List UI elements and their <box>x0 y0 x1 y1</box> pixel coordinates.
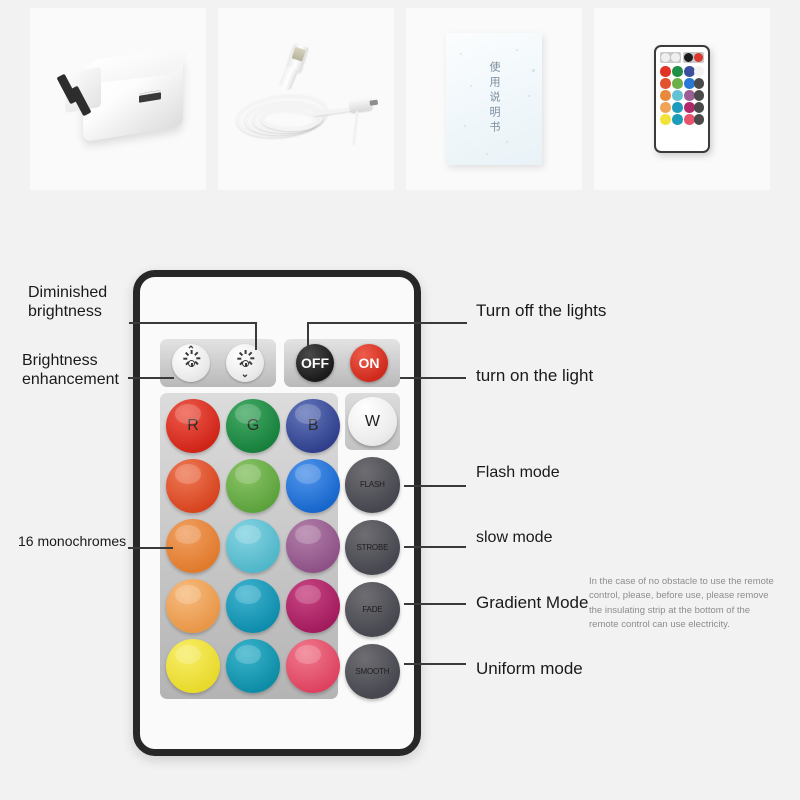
callout-flash-mode: Flash mode <box>476 464 560 483</box>
thumb-color <box>672 78 683 89</box>
thumb-color <box>660 114 671 125</box>
sun-ray <box>183 358 187 360</box>
brightness-pad: ⌃ <box>160 339 276 387</box>
color-button[interactable] <box>286 579 340 633</box>
color-button[interactable] <box>286 459 340 513</box>
callout-uniform-mode: Uniform mode <box>476 659 583 679</box>
top-button-row: ⌃ <box>160 339 400 387</box>
sun-ray <box>237 358 241 360</box>
mode-button-smooth[interactable]: SMOOTH <box>345 644 400 699</box>
paper-fleck <box>460 53 462 55</box>
product-panel-power-adapter <box>30 8 206 190</box>
color-and-mode-grid: R G B <box>160 393 400 699</box>
thumb-off <box>684 53 693 62</box>
sun-ray <box>250 358 254 360</box>
color-button-blue[interactable]: B <box>286 399 340 453</box>
color-button[interactable] <box>166 639 220 693</box>
callout-16-monochromes: 16 monochromes <box>18 533 126 550</box>
leader-line-turn-off-v <box>307 322 309 350</box>
sun-ray <box>245 363 247 367</box>
power-adapter-image <box>43 44 193 154</box>
thumb-color <box>660 102 671 113</box>
product-panel-usb-cable <box>218 8 394 190</box>
color-button[interactable] <box>226 519 280 573</box>
callout-diminished-brightness: Diminished brightness <box>28 284 107 322</box>
sun-ray <box>245 350 247 354</box>
mode-button-strobe[interactable]: STROBE <box>345 520 400 575</box>
leader-line-turn-on <box>400 377 466 379</box>
product-panel-manual: 使用说明书 <box>406 8 582 190</box>
product-panel-remote <box>594 8 770 190</box>
usb-cable-image <box>226 39 386 159</box>
leader-line-flash <box>404 485 466 487</box>
color-button[interactable] <box>166 579 220 633</box>
thumb-color <box>660 78 671 89</box>
leader-line-diminished-v <box>255 322 257 350</box>
instruction-manual-image: 使用说明书 <box>446 33 542 165</box>
color-button-red[interactable]: R <box>166 399 220 453</box>
color-button[interactable] <box>166 519 220 573</box>
product-image-strip: 使用说明书 <box>0 0 800 190</box>
color-button-white[interactable]: W <box>348 397 397 446</box>
thumb-color <box>672 90 683 101</box>
manual-title-text: 使用说明书 <box>486 61 502 136</box>
arrow-down-icon: ⌄ <box>241 370 249 380</box>
color-button[interactable] <box>226 639 280 693</box>
leader-line-gradient <box>404 603 466 605</box>
sun-ray <box>194 352 198 356</box>
paper-fleck <box>464 125 466 127</box>
sun-ray <box>194 361 198 365</box>
thumb-color <box>660 90 671 101</box>
paper-fleck <box>528 95 530 97</box>
callout-turn-off-the-lights: Turn off the lights <box>476 301 606 321</box>
thumb-color <box>672 66 683 77</box>
thumb-dim-up <box>671 53 680 62</box>
power-off-button[interactable]: OFF <box>296 344 334 382</box>
leader-line-uniform <box>404 663 466 665</box>
usage-note-text: In the case of no obstacle to use the re… <box>589 575 779 632</box>
thumb-mode <box>694 102 705 113</box>
thumb-power-pad <box>683 52 704 63</box>
page-root: 使用说明书 <box>0 0 800 800</box>
thumb-dim-pad <box>660 52 681 63</box>
callout-turn-on-the-light: turn on the light <box>476 366 593 386</box>
usb-connector-neck <box>278 65 298 90</box>
brightness-decrease-button[interactable]: ⌃ <box>172 344 210 382</box>
callout-gradient-mode: Gradient Mode <box>476 593 588 613</box>
brightness-increase-button[interactable]: ⌄ <box>226 344 264 382</box>
paper-fleck <box>470 85 472 87</box>
mode-button-flash[interactable]: FLASH <box>345 457 400 512</box>
thumb-mode <box>694 114 705 125</box>
paper-fleck <box>532 69 535 72</box>
sun-ray <box>191 350 193 354</box>
remote-control-diagram: ⌃ <box>133 270 421 756</box>
sun-ray <box>248 352 252 356</box>
sun-icon <box>183 355 200 372</box>
color-button[interactable] <box>226 459 280 513</box>
thumb-on <box>694 53 703 62</box>
callout-slow-mode: slow mode <box>476 529 552 548</box>
sun-ray <box>248 361 252 365</box>
paper-fleck <box>516 49 518 51</box>
color-button-pad: R G B <box>160 393 338 699</box>
color-button-green[interactable]: G <box>226 399 280 453</box>
thumb-white <box>694 66 705 77</box>
color-button[interactable] <box>286 639 340 693</box>
color-button[interactable] <box>226 579 280 633</box>
paper-fleck <box>486 153 488 155</box>
paper-fleck <box>506 141 508 143</box>
cable-end-cord <box>352 111 359 145</box>
thumb-color <box>660 66 671 77</box>
remote-button-area: ⌃ <box>160 339 400 711</box>
dc-jack-connector <box>349 98 372 113</box>
thumb-color <box>672 114 683 125</box>
mode-button-fade[interactable]: FADE <box>345 582 400 637</box>
color-button[interactable] <box>286 519 340 573</box>
leader-line-slow <box>404 546 466 548</box>
leader-line-diminished-h <box>129 322 257 324</box>
mode-button-column: W FLASH STROBE FADE SMOOTH <box>345 393 400 699</box>
thumb-color <box>672 102 683 113</box>
power-on-button[interactable]: ON <box>350 344 388 382</box>
thumb-mode-column <box>694 66 705 125</box>
thumb-dim-down <box>661 53 670 62</box>
thumb-mode <box>694 78 705 89</box>
color-button-label: B <box>286 399 340 453</box>
leader-line-monochromes <box>128 547 173 549</box>
remote-control-thumbnail <box>654 45 710 153</box>
color-button-label: R <box>166 399 220 453</box>
leader-line-brightness-enhancement <box>128 377 174 379</box>
thumb-top-row <box>660 52 704 63</box>
color-button[interactable] <box>166 459 220 513</box>
power-pad: OFF ON <box>284 339 400 387</box>
thumb-color-grid <box>660 66 692 125</box>
white-button-holder: W <box>345 393 400 450</box>
callout-brightness-enhancement: Brightness enhancement <box>22 352 119 390</box>
thumb-button-grid <box>660 66 704 125</box>
sun-ray <box>196 358 200 360</box>
sun-ray <box>239 352 243 356</box>
sun-ray <box>191 363 193 367</box>
thumb-mode <box>694 90 705 101</box>
leader-line-turn-off-h <box>307 322 467 324</box>
color-button-label: G <box>226 399 280 453</box>
